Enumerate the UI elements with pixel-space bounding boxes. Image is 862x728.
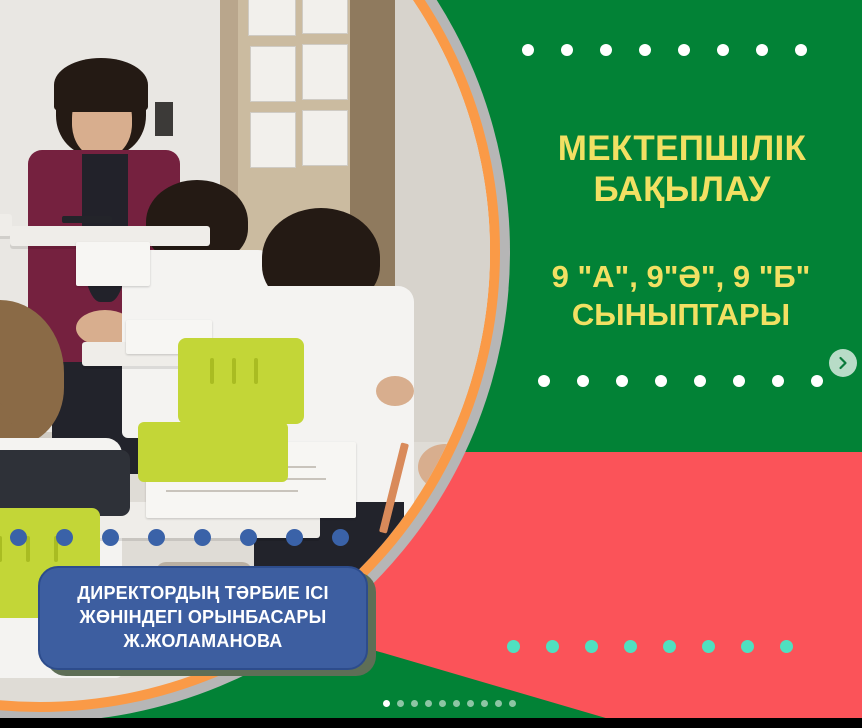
- pagination-dot-7[interactable]: [467, 700, 474, 707]
- decor-dot: [600, 44, 612, 56]
- decor-dot: [780, 640, 793, 653]
- decor-dot: [102, 529, 119, 546]
- pagination-dot-2[interactable]: [397, 700, 404, 707]
- next-slide-button[interactable]: [829, 349, 857, 377]
- decor-dot: [240, 529, 257, 546]
- pagination-dot-9[interactable]: [495, 700, 502, 707]
- decor-dot: [811, 375, 823, 387]
- decor-dot: [733, 375, 745, 387]
- title-line-1: МЕКТЕПШІЛІК: [506, 128, 858, 169]
- subtitle-line-1: 9 "А", 9"Ә", 9 "Б": [498, 258, 862, 296]
- decor-dot: [678, 44, 690, 56]
- decor-dot: [639, 44, 651, 56]
- pagination-dot-5[interactable]: [439, 700, 446, 707]
- pagination-dot-6[interactable]: [453, 700, 460, 707]
- decor-dot: [546, 640, 559, 653]
- decor-dot: [772, 375, 784, 387]
- left-blue-dot-row: [10, 529, 349, 546]
- decor-dot: [624, 640, 637, 653]
- caption-line-1: ДИРЕКТОРДЫҢ ТӘРБИЕ ІСІ: [77, 582, 328, 606]
- pagination-dot-8[interactable]: [481, 700, 488, 707]
- decor-dot: [522, 44, 534, 56]
- decor-dot: [741, 640, 754, 653]
- decor-dot: [538, 375, 550, 387]
- caption-line-2: ЖӨНІНДЕГІ ОРЫНБАСАРЫ: [80, 606, 327, 630]
- decor-dot: [194, 529, 211, 546]
- decor-dot: [795, 44, 807, 56]
- decor-dot: [694, 375, 706, 387]
- top-white-dot-row: [522, 44, 807, 56]
- decor-dot: [655, 375, 667, 387]
- caption-line-3: Ж.ЖОЛАМАНОВА: [124, 630, 283, 654]
- chevron-right-icon: [837, 356, 849, 370]
- decor-dot: [10, 529, 27, 546]
- decor-dot: [702, 640, 715, 653]
- bottom-teal-dot-row: [507, 640, 793, 653]
- title-line-2: БАҚЫЛАУ: [506, 169, 858, 210]
- decor-dot: [56, 529, 73, 546]
- decor-dot: [332, 529, 349, 546]
- decor-dot: [616, 375, 628, 387]
- decor-dot: [577, 375, 589, 387]
- slide-subtitle: 9 "А", 9"Ә", 9 "Б" СЫНЫПТАРЫ: [498, 258, 862, 334]
- decor-dot: [717, 44, 729, 56]
- carousel-slide: МЕКТЕПШІЛІК БАҚЫЛАУ 9 "А", 9"Ә", 9 "Б" С…: [0, 0, 862, 728]
- caption-box: ДИРЕКТОРДЫҢ ТӘРБИЕ ІСІ ЖӨНІНДЕГІ ОРЫНБАС…: [38, 566, 368, 670]
- decor-dot: [663, 640, 676, 653]
- bottom-black-bar: [0, 718, 862, 728]
- decor-dot: [286, 529, 303, 546]
- pagination-dot-3[interactable]: [411, 700, 418, 707]
- decor-dot: [756, 44, 768, 56]
- decor-dot: [148, 529, 165, 546]
- pagination-dot-4[interactable]: [425, 700, 432, 707]
- mid-white-dot-row: [538, 375, 823, 387]
- slide-title: МЕКТЕПШІЛІК БАҚЫЛАУ: [506, 128, 858, 211]
- decor-dot: [585, 640, 598, 653]
- decor-dot: [507, 640, 520, 653]
- pagination-dot-1[interactable]: [383, 700, 390, 707]
- pagination-dot-10[interactable]: [509, 700, 516, 707]
- subtitle-line-2: СЫНЫПТАРЫ: [498, 296, 862, 334]
- decor-dot: [561, 44, 573, 56]
- carousel-pagination[interactable]: [383, 700, 516, 707]
